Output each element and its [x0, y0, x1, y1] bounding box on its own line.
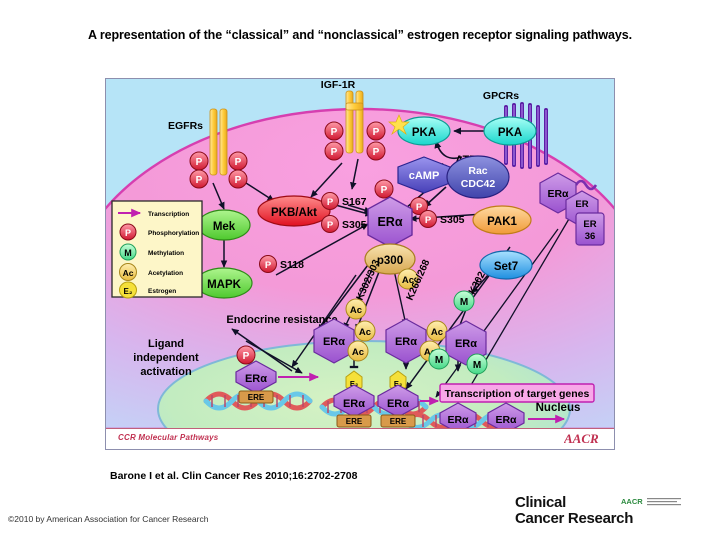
figure-panel: EGFRs IGF-1R GPCRs — [105, 78, 615, 450]
svg-text:P: P — [196, 175, 203, 186]
svg-text:P: P — [235, 157, 242, 168]
endocrine-resistance-label: Endocrine resistance — [226, 314, 337, 326]
ac-icon: Ac — [120, 264, 137, 281]
svg-text:independent: independent — [133, 352, 199, 364]
p-icon: P — [322, 216, 339, 233]
svg-text:ERα: ERα — [495, 414, 517, 426]
svg-text:P: P — [425, 215, 432, 226]
pathway-svg: EGFRs IGF-1R GPCRs — [106, 79, 614, 429]
svg-text:PKB/Akt: PKB/Akt — [271, 207, 317, 219]
svg-text:Ac: Ac — [431, 327, 443, 338]
p-icon: P — [190, 170, 208, 188]
page-title: A representation of the “classical” and … — [0, 28, 720, 42]
svg-text:PKA: PKA — [412, 127, 436, 139]
svg-text:M: M — [460, 297, 468, 308]
p-icon: P — [229, 152, 247, 170]
svg-text:ERα: ERα — [245, 373, 267, 385]
journal-logo-line1: Clinical — [515, 495, 633, 511]
svg-text:ERα: ERα — [395, 336, 417, 348]
legend-label-acetylation: Acetylation — [148, 270, 183, 277]
aacr-small-logo: AACR — [621, 495, 697, 511]
p-icon: P — [237, 346, 255, 364]
svg-text:P: P — [243, 351, 250, 362]
svg-text:Ligand: Ligand — [148, 338, 184, 350]
p-icon: P — [375, 180, 393, 198]
svg-text:36: 36 — [585, 231, 596, 242]
citation-text: Barone I et al. Clin Cancer Res 2010;16:… — [110, 470, 357, 482]
svg-text:ERα: ERα — [387, 398, 409, 410]
site-s118: P S118 — [260, 256, 305, 273]
svg-text:S305: S305 — [440, 214, 465, 226]
copyright-text: ©2010 by American Association for Cancer… — [8, 514, 208, 524]
svg-text:cAMP: cAMP — [409, 170, 440, 182]
svg-text:PAK1: PAK1 — [487, 216, 517, 228]
svg-text:Ac: Ac — [350, 305, 362, 316]
svg-text:Transcription of target genes: Transcription of target genes — [445, 388, 590, 400]
journal-logo: Clinical Cancer Research AACR — [515, 495, 633, 527]
legend-label-phosphorylation: Phosphorylation — [148, 230, 199, 237]
m-icon: M — [429, 349, 449, 369]
pathway-diagram: EGFRs IGF-1R GPCRs — [106, 79, 614, 429]
node-mek: Mek — [198, 210, 250, 240]
svg-text:ERα: ERα — [547, 188, 569, 200]
ccr-molecular-pathways-label: CCR Molecular Pathways — [118, 433, 218, 442]
legend-label-transcription: Transcription — [148, 211, 189, 218]
svg-text:ER: ER — [575, 199, 588, 210]
p-icon: P — [325, 142, 343, 160]
node-rac-cdc42: Rac CDC42 — [447, 156, 509, 198]
svg-text:ERα: ERα — [377, 215, 402, 229]
svg-text:Ac: Ac — [359, 327, 371, 338]
svg-text:ERα: ERα — [447, 414, 469, 426]
p-icon: P — [325, 122, 343, 140]
svg-text:M: M — [124, 248, 132, 258]
node-mapk: MAPK — [196, 268, 252, 298]
igf1r-label: IGF-1R — [321, 79, 356, 91]
p-icon: P — [190, 152, 208, 170]
svg-text:P: P — [331, 147, 338, 158]
svg-text:P: P — [331, 127, 338, 138]
svg-text:S305: S305 — [342, 219, 367, 231]
svg-text:Ac: Ac — [352, 347, 364, 358]
p-icon: P — [420, 211, 437, 228]
svg-text:P: P — [373, 127, 380, 138]
p-icon: P — [260, 256, 277, 273]
aacr-mark-text: AACR — [564, 431, 599, 446]
svg-text:M: M — [473, 360, 481, 371]
node-er36: ER 36 — [576, 213, 604, 245]
p-icon: P — [367, 142, 385, 160]
legend-box: Transcription P Phosphorylation M Methyl… — [112, 201, 202, 298]
svg-text:P: P — [381, 185, 388, 196]
ac-icon: Ac — [355, 321, 375, 341]
node-pka: PKA — [484, 117, 536, 145]
p-icon: P — [120, 224, 136, 240]
legend-label-estrogen: Estrogen — [148, 288, 176, 295]
svg-text:CDC42: CDC42 — [461, 178, 496, 190]
m-icon: M — [120, 244, 136, 260]
figure-footer: CCR Molecular Pathways AACR — [106, 428, 614, 449]
aacr-logo: AACR — [564, 431, 604, 446]
era-acetylated-1: ERα Ac Ac — [314, 319, 375, 363]
svg-text:activation: activation — [140, 366, 192, 378]
svg-text:PKA: PKA — [498, 127, 522, 139]
site-s305-right: P S305 — [420, 211, 465, 228]
svg-text:P: P — [125, 228, 131, 238]
svg-text:ERα: ERα — [343, 398, 365, 410]
p-icon: P — [367, 122, 385, 140]
svg-text:Ac: Ac — [123, 268, 134, 278]
svg-text:P: P — [327, 220, 334, 231]
svg-text:ERE: ERE — [390, 417, 407, 426]
svg-text:ER: ER — [583, 219, 596, 230]
svg-text:P: P — [373, 147, 380, 158]
svg-text:M: M — [435, 355, 443, 366]
m-icon: M — [467, 354, 487, 374]
svg-text:P: P — [265, 260, 272, 271]
node-pkb-akt: PKB/Akt — [258, 196, 330, 226]
e2-icon: E₂ — [120, 282, 137, 298]
node-set7: Set7 — [480, 251, 532, 279]
svg-text:Rac: Rac — [468, 165, 487, 177]
svg-text:MAPK: MAPK — [207, 279, 242, 291]
svg-text:ERE: ERE — [346, 417, 363, 426]
node-pak1: PAK1 — [473, 206, 531, 234]
svg-text:ERE: ERE — [248, 393, 265, 402]
svg-text:ERα: ERα — [455, 338, 477, 350]
journal-logo-line2: Cancer Research — [515, 511, 633, 527]
p-icon: P — [229, 170, 247, 188]
svg-text:P: P — [235, 175, 242, 186]
p-icon: P — [322, 193, 339, 210]
svg-text:P: P — [327, 197, 334, 208]
site-s305-left: P S305 — [322, 216, 367, 233]
gpcr-label: GPCRs — [483, 90, 519, 102]
svg-text:Mek: Mek — [213, 221, 236, 233]
nucleus-label: Nucleus — [536, 402, 581, 414]
svg-text:E₂: E₂ — [124, 287, 133, 296]
egfr-label: EGFRs — [168, 120, 203, 132]
transcription-target-genes-box: Transcription of target genes — [440, 384, 594, 402]
svg-text:ERα: ERα — [323, 336, 345, 348]
svg-text:S118: S118 — [280, 259, 304, 271]
svg-text:P: P — [416, 202, 423, 213]
legend-label-methylation: Methylation — [148, 250, 184, 257]
site-s167: P S167 — [322, 193, 367, 210]
aacr-small-mark-text: AACR — [621, 497, 643, 506]
svg-text:P: P — [196, 157, 203, 168]
ac-icon: Ac — [427, 321, 447, 341]
svg-text:S167: S167 — [342, 196, 367, 208]
svg-text:Set7: Set7 — [494, 261, 518, 273]
ac-icon: Ac — [348, 341, 368, 361]
